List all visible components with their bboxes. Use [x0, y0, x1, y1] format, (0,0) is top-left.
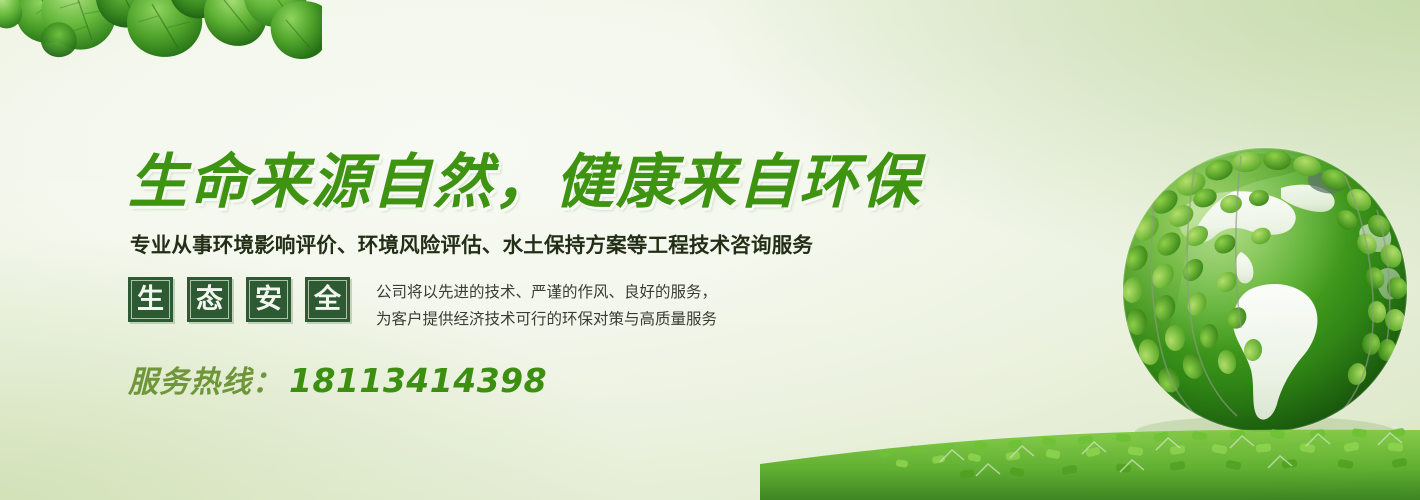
eco-banner: 生命来源自然，健康来自环保 专业从事环境影响评价、环境风险评估、水土保持方案等工…: [0, 0, 1420, 500]
page-title: 生命来源自然，健康来自环保: [128, 150, 888, 214]
hotline-label: 服务热线：: [128, 357, 283, 401]
banner-content: 生命来源自然，健康来自环保 专业从事环境影响评价、环境风险评估、水土保持方案等工…: [128, 150, 888, 401]
stamp-badge: 生: [128, 277, 173, 322]
hotline-number[interactable]: 18113414398: [289, 361, 547, 400]
stamp-character: 生: [128, 277, 173, 322]
stamp-character: 安: [246, 277, 291, 322]
stamp-character: 全: [305, 277, 350, 322]
stamp-character: 态: [187, 277, 232, 322]
blurb-line-2: 为客户提供经济技术可行的环保对策与高质量服务: [376, 306, 717, 333]
stamp-badge: 安: [246, 277, 291, 322]
company-blurb: 公司将以先进的技术、严谨的作风、良好的服务， 为客户提供经济技术可行的环保对策与…: [376, 276, 717, 333]
service-hotline: 服务热线： 18113414398: [128, 357, 888, 401]
banner-subtitle: 专业从事环境影响评价、环境风险评估、水土保持方案等工程技术咨询服务: [130, 228, 888, 258]
stamp-badge: 全: [305, 277, 350, 322]
eco-safety-stamps: 生 态 安 全: [128, 276, 350, 322]
stamps-and-blurb-row: 生 态 安 全 公司将以先进的技术、严谨的作风、良好的服务， 为客户提供经济技术…: [128, 276, 888, 333]
blurb-line-1: 公司将以先进的技术、严谨的作风、良好的服务，: [376, 279, 717, 306]
stamp-badge: 态: [187, 277, 232, 322]
